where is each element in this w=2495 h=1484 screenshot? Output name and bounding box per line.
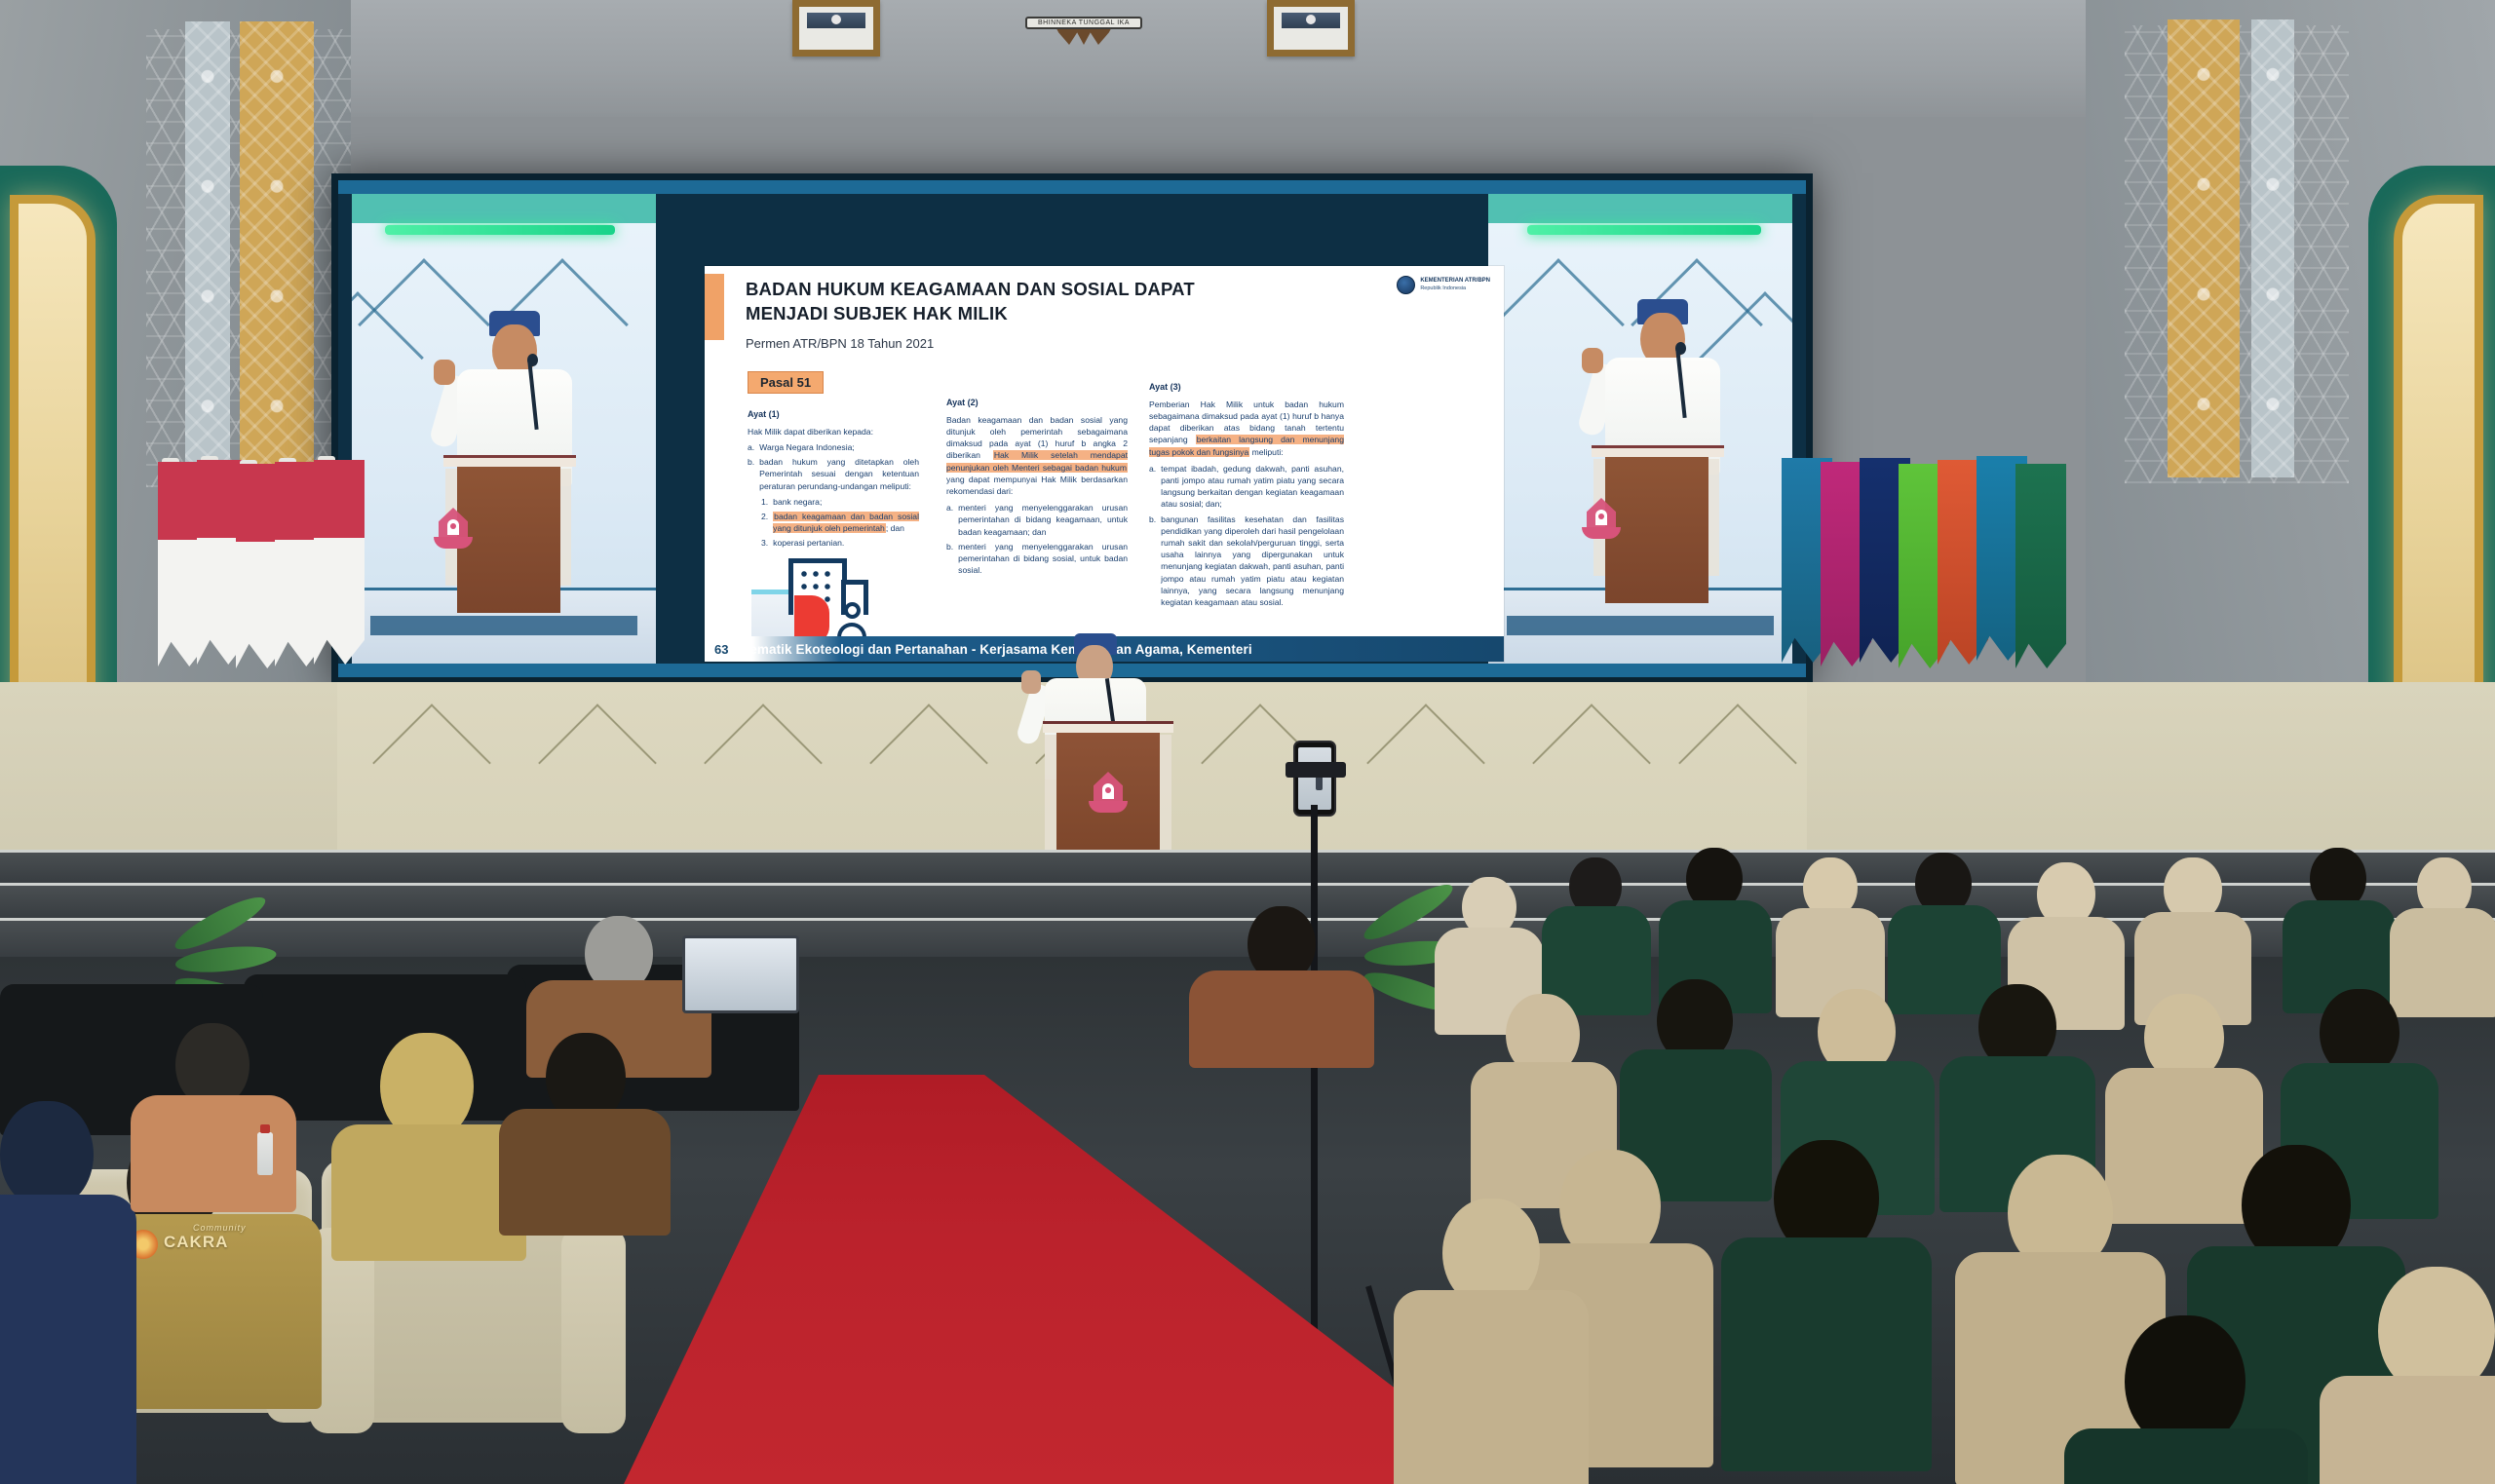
col1-sub-2-mark: 2. bbox=[761, 511, 768, 534]
president-portrait bbox=[792, 0, 880, 57]
col3-item-a-mark: a. bbox=[1149, 463, 1156, 511]
stage-step bbox=[0, 883, 2495, 918]
col1-sub-3-mark: 3. bbox=[761, 537, 768, 549]
col2-item-b-text: menteri yang menyelenggarakan urusan pem… bbox=[958, 541, 1128, 577]
col1-sub-3-text: koperasi pertanian. bbox=[773, 537, 844, 549]
col1-sub-1: 1. bank negara; bbox=[761, 496, 919, 508]
organization-flag bbox=[2015, 464, 2066, 668]
ministry-logo-sub: Republik Indonesia bbox=[1420, 285, 1490, 292]
slide-subtitle: Permen ATR/BPN 18 Tahun 2021 bbox=[746, 336, 934, 351]
water-bottle bbox=[257, 1132, 273, 1175]
stage-step bbox=[0, 850, 2495, 883]
col1-item-a-text: Warga Negara Indonesia; bbox=[759, 441, 855, 453]
slide-footer-text: - Tematik Ekoteologi dan Pertanahan - Ke… bbox=[734, 642, 1251, 657]
slide-title-line2: MENJADI SUBJEK HAK MILIK bbox=[746, 302, 1350, 326]
vice-president-portrait bbox=[1267, 0, 1355, 57]
col2-heading: Ayat (2) bbox=[946, 397, 1128, 409]
col1-sub-1-text: bank negara; bbox=[773, 496, 822, 508]
col3-item-b-text: bangunan fasilitas kesehatan dan fasilit… bbox=[1161, 514, 1344, 609]
pasal-badge: Pasal 51 bbox=[748, 371, 824, 394]
col3-item-b: b. bangunan fasilitas kesehatan dan fasi… bbox=[1149, 514, 1344, 609]
col1-item-a: a. Warga Negara Indonesia; bbox=[748, 441, 919, 453]
col2-item-b: b. menteri yang menyelenggarakan urusan … bbox=[946, 541, 1128, 577]
col1-sub-2-tail: ; dan bbox=[886, 523, 904, 533]
col1-item-b-mark: b. bbox=[748, 456, 754, 492]
laptop[interactable] bbox=[682, 935, 799, 1013]
camera-feed-right bbox=[1488, 194, 1792, 664]
emblem-motto: BHINNEKA TUNGGAL IKA bbox=[1025, 17, 1142, 29]
left-arabesque-column bbox=[240, 21, 314, 479]
podium-emblem-icon bbox=[1094, 772, 1123, 805]
conference-hall-photo: BHINNEKA TUNGGAL IKA bbox=[0, 0, 2495, 1484]
slide-title-line1: BADAN HUKUM KEAGAMAAN DAN SOSIAL DAPAT bbox=[746, 278, 1350, 302]
col3-heading: Ayat (3) bbox=[1149, 381, 1344, 394]
col1-item-b: b. badan hukum yang ditetapkan oleh Peme… bbox=[748, 456, 919, 492]
col2-paragraph: Badan keagamaan dan badan sosial yang di… bbox=[946, 414, 1128, 497]
col1-heading: Ayat (1) bbox=[748, 408, 919, 421]
chair-brand-text: CAKRA bbox=[164, 1233, 228, 1251]
camera-feed-left bbox=[352, 194, 656, 664]
col3-paragraph: Pemberian Hak Milik untuk badan hukum se… bbox=[1149, 399, 1344, 458]
slide-title: BADAN HUKUM KEAGAMAAN DAN SOSIAL DAPAT M… bbox=[746, 278, 1350, 326]
col1-item-a-mark: a. bbox=[748, 441, 754, 453]
col1-sub-3: 3. koperasi pertanian. bbox=[761, 537, 919, 549]
col1-sub-2: 2. badan keagamaan dan badan sosial yang… bbox=[761, 511, 919, 534]
ministry-logo: KEMENTERIAN ATR/BPN Republik Indonesia bbox=[1397, 276, 1490, 294]
ministry-seal-icon bbox=[1397, 276, 1415, 294]
slide-column-ayat-3: Ayat (3) Pemberian Hak Milik untuk badan… bbox=[1149, 381, 1344, 611]
chair-brand-script: Community bbox=[193, 1223, 247, 1233]
col1-sub-1-mark: 1. bbox=[761, 496, 768, 508]
indonesia-flag bbox=[314, 460, 365, 665]
slide-column-ayat-2: Ayat (2) Badan keagamaan dan badan sosia… bbox=[946, 397, 1128, 579]
right-arabesque-column-2 bbox=[2251, 19, 2294, 477]
col3-para-post: meliputi: bbox=[1249, 447, 1283, 457]
slide-accent-bar bbox=[705, 274, 724, 340]
col3-item-b-mark: b. bbox=[1149, 514, 1156, 609]
col2-item-a-text: menteri yang menyelenggarakan urusan pem… bbox=[958, 502, 1128, 538]
left-gold-panel bbox=[10, 195, 96, 760]
col1-item-b-text: badan hukum yang ditetapkan oleh Pemerin… bbox=[759, 456, 919, 492]
chair-brand-label: Community CAKRA bbox=[164, 1223, 247, 1252]
col2-para-post: yang dapat mempunyai Hak Milik berdasark… bbox=[946, 475, 1128, 496]
led-bottom-band bbox=[338, 664, 1806, 677]
col2-item-b-mark: b. bbox=[946, 541, 953, 577]
col2-item-a: a. menteri yang menyelenggarakan urusan … bbox=[946, 502, 1128, 538]
col3-item-a-text: tempat ibadah, gedung dakwah, panti asuh… bbox=[1161, 463, 1344, 511]
right-arabesque-column bbox=[2168, 19, 2240, 477]
slide-column-ayat-1: Ayat (1) Hak Milik dapat diberikan kepad… bbox=[748, 408, 919, 552]
presentation-slide[interactable]: BADAN HUKUM KEAGAMAAN DAN SOSIAL DAPAT M… bbox=[705, 266, 1504, 662]
col3-item-a: a. tempat ibadah, gedung dakwah, panti a… bbox=[1149, 463, 1344, 511]
led-presentation-screen[interactable]: BADAN HUKUM KEAGAMAAN DAN SOSIAL DAPAT M… bbox=[331, 173, 1813, 684]
left-arabesque-column-2 bbox=[185, 21, 230, 479]
col2-item-a-mark: a. bbox=[946, 502, 953, 538]
slide-footer-number: 63 bbox=[705, 642, 734, 657]
led-top-band bbox=[338, 180, 1806, 194]
garuda-emblem: BHINNEKA TUNGGAL IKA bbox=[1025, 0, 1142, 45]
ministry-logo-title: KEMENTERIAN ATR/BPN bbox=[1420, 278, 1490, 285]
col1-intro: Hak Milik dapat diberikan kepada: bbox=[748, 426, 919, 438]
